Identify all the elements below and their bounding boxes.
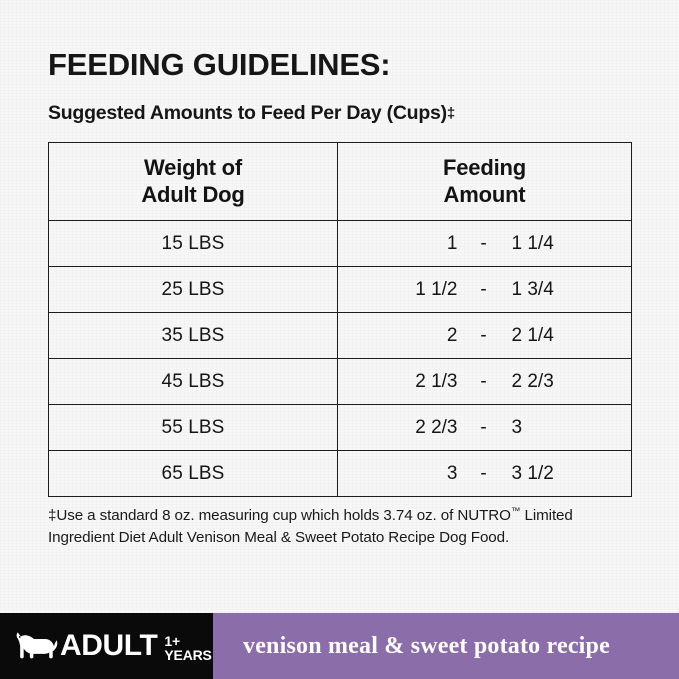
amount-min: 2 1/3 bbox=[372, 371, 460, 393]
column-header-weight-line1: Weight of bbox=[144, 155, 242, 180]
feeding-guidelines-panel: FEEDING GUIDELINES: Suggested Amounts to… bbox=[0, 0, 679, 679]
weight-value: 25 LBS bbox=[49, 267, 338, 313]
column-header-amount-line2: Amount bbox=[338, 182, 631, 209]
page-title: FEEDING GUIDELINES: bbox=[48, 47, 390, 83]
life-stage-badge: ADULT 1+ YEARS bbox=[0, 613, 213, 679]
amount-max: 1 3/4 bbox=[508, 279, 598, 301]
amount-max: 2 2/3 bbox=[508, 371, 598, 393]
table-row: 55 LBS 2 2/3 - 3 bbox=[49, 405, 632, 451]
life-stage-label: ADULT bbox=[60, 631, 157, 661]
amount-min: 3 bbox=[372, 463, 460, 485]
amount-value: 3 - 3 1/2 bbox=[338, 451, 632, 497]
weight-value: 55 LBS bbox=[49, 405, 338, 451]
subtitle-text: Suggested Amounts to Feed Per Day (Cups) bbox=[48, 102, 447, 124]
amount-max: 3 1/2 bbox=[508, 463, 598, 485]
amount-max: 2 1/4 bbox=[508, 325, 598, 347]
table-header-row: Weight ofAdult Dog FeedingAmount bbox=[49, 143, 632, 221]
amount-dash: - bbox=[460, 417, 508, 439]
footnote-part1: ‡Use a standard 8 oz. measuring cup whic… bbox=[48, 507, 511, 524]
weight-value: 35 LBS bbox=[49, 313, 338, 359]
subtitle-footnote-marker: ‡ bbox=[447, 105, 455, 122]
amount-value: 1 1/2 - 1 3/4 bbox=[338, 267, 632, 313]
amount-min: 1 1/2 bbox=[372, 279, 460, 301]
column-header-amount-line1: Feeding bbox=[443, 155, 526, 180]
life-stage-text: ADULT 1+ YEARS bbox=[60, 631, 212, 661]
amount-dash: - bbox=[460, 371, 508, 393]
amount-value: 2 - 2 1/4 bbox=[338, 313, 632, 359]
trademark-symbol: ™ bbox=[511, 506, 521, 517]
table-row: 35 LBS 2 - 2 1/4 bbox=[49, 313, 632, 359]
column-header-amount: FeedingAmount bbox=[338, 143, 632, 221]
column-header-weight: Weight ofAdult Dog bbox=[49, 143, 338, 221]
amount-min: 1 bbox=[372, 233, 460, 255]
age-unit: YEARS bbox=[164, 648, 211, 662]
amount-max: 1 1/4 bbox=[508, 233, 598, 255]
amount-value: 2 1/3 - 2 2/3 bbox=[338, 359, 632, 405]
amount-dash: - bbox=[460, 463, 508, 485]
age-number: 1+ bbox=[164, 634, 211, 648]
bottom-bar: ADULT 1+ YEARS venison meal & sweet pota… bbox=[0, 613, 679, 679]
amount-max: 3 bbox=[508, 417, 598, 439]
recipe-banner: venison meal & sweet potato recipe bbox=[213, 613, 679, 679]
page-subtitle: Suggested Amounts to Feed Per Day (Cups)… bbox=[48, 102, 455, 125]
table-row: 45 LBS 2 1/3 - 2 2/3 bbox=[49, 359, 632, 405]
age-range: 1+ YEARS bbox=[164, 634, 211, 663]
column-header-weight-line2: Adult Dog bbox=[49, 182, 337, 209]
amount-min: 2 bbox=[372, 325, 460, 347]
recipe-name: venison meal & sweet potato recipe bbox=[243, 633, 610, 660]
feeding-guidelines-table: Weight ofAdult Dog FeedingAmount 15 LBS … bbox=[48, 142, 632, 497]
table-row: 65 LBS 3 - 3 1/2 bbox=[49, 451, 632, 497]
amount-value: 2 2/3 - 3 bbox=[338, 405, 632, 451]
weight-value: 15 LBS bbox=[49, 221, 338, 267]
weight-value: 65 LBS bbox=[49, 451, 338, 497]
amount-dash: - bbox=[460, 233, 508, 255]
dog-icon bbox=[14, 631, 58, 661]
amount-value: 1 - 1 1/4 bbox=[338, 221, 632, 267]
amount-min: 2 2/3 bbox=[372, 417, 460, 439]
amount-dash: - bbox=[460, 325, 508, 347]
weight-value: 45 LBS bbox=[49, 359, 338, 405]
footnote: ‡Use a standard 8 oz. measuring cup whic… bbox=[48, 505, 618, 548]
table-row: 25 LBS 1 1/2 - 1 3/4 bbox=[49, 267, 632, 313]
amount-dash: - bbox=[460, 279, 508, 301]
table-row: 15 LBS 1 - 1 1/4 bbox=[49, 221, 632, 267]
